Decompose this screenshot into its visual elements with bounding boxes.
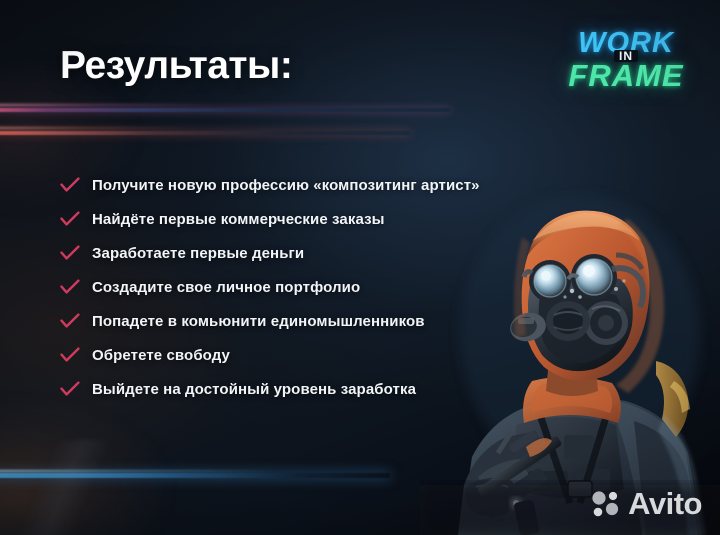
warm-glow-bottom-left (0, 400, 170, 535)
list-item-label: Обретете свободу (92, 347, 230, 364)
list-item-label: Выйдете на достойный уровень заработка (92, 381, 416, 398)
light-streak-red-core (0, 127, 190, 129)
brand-logo: WORK IN FRAME (556, 30, 696, 90)
light-streak-diagonal (0, 440, 150, 535)
list-item-label: Найдёте первые коммерческие заказы (92, 211, 385, 228)
page-title: Результаты: (60, 44, 292, 89)
list-item: Создадите свое личное портфолио (60, 270, 530, 304)
slide-root: Результаты: WORK IN FRAME Получите новую… (0, 0, 720, 535)
light-streak-blue (0, 473, 390, 478)
list-item: Получите новую профессию «композитинг ар… (60, 168, 530, 202)
check-icon (60, 177, 92, 193)
avito-watermark: Avito (591, 488, 702, 519)
list-item-label: Получите новую профессию «композитинг ар… (92, 177, 480, 194)
list-item: Найдёте первые коммерческие заказы (60, 202, 530, 236)
list-item: Заработаете первые деньги (60, 236, 530, 270)
avito-wordmark: Avito (628, 488, 702, 519)
check-icon (60, 211, 92, 227)
light-streak-red (0, 131, 410, 135)
light-streak-magenta-core (0, 104, 220, 106)
list-item-label: Создадите свое личное портфолио (92, 279, 360, 296)
avito-dots-icon (591, 489, 621, 519)
list-item-label: Попадете в комьюнити единомышленников (92, 313, 425, 330)
logo-badge-in: IN (614, 50, 638, 62)
check-icon (60, 313, 92, 329)
list-item: Выйдете на достойный уровень заработка (60, 372, 530, 406)
check-icon (60, 279, 92, 295)
light-streak-magenta (0, 108, 450, 112)
check-icon (60, 347, 92, 363)
check-icon (60, 381, 92, 397)
light-streak-blue-core (0, 470, 280, 472)
list-item: Обретете свободу (60, 338, 530, 372)
list-item: Попадете в комьюнити единомышленников (60, 304, 530, 338)
results-list: Получите новую профессию «композитинг ар… (60, 168, 530, 406)
list-item-label: Заработаете первые деньги (92, 245, 304, 262)
check-icon (60, 245, 92, 261)
logo-line-frame: FRAME (556, 62, 696, 91)
